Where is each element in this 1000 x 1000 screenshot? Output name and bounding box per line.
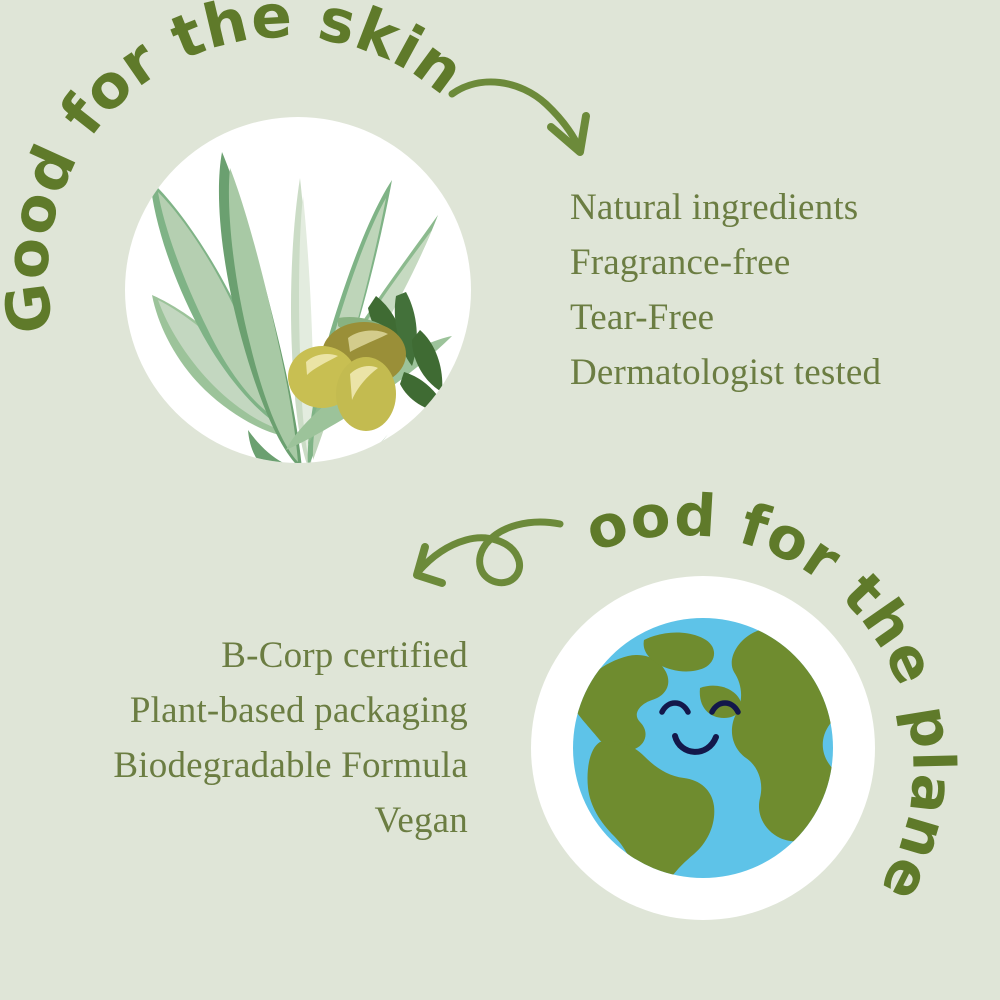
list-item: Fragrance-free — [570, 235, 881, 290]
product-benefits-poster: Good for the skin Good for the planet Na… — [0, 0, 1000, 1000]
list-item: Dermatologist tested — [570, 345, 881, 400]
list-item: Biodegradable Formula — [113, 738, 468, 793]
list-item: Plant-based packaging — [113, 683, 468, 738]
list-item: B-Corp certified — [113, 628, 468, 683]
looping-arrow-down-left-icon — [417, 522, 560, 583]
poster-artwork: Good for the skin Good for the planet — [0, 0, 1000, 1000]
curved-arrow-down-right-icon — [452, 82, 586, 152]
planet-benefits-list: B-Corp certified Plant-based packaging B… — [113, 628, 468, 848]
list-item: Natural ingredients — [570, 180, 881, 235]
skin-benefits-list: Natural ingredients Fragrance-free Tear-… — [570, 180, 881, 400]
list-item: Vegan — [113, 793, 468, 848]
list-item: Tear-Free — [570, 290, 881, 345]
